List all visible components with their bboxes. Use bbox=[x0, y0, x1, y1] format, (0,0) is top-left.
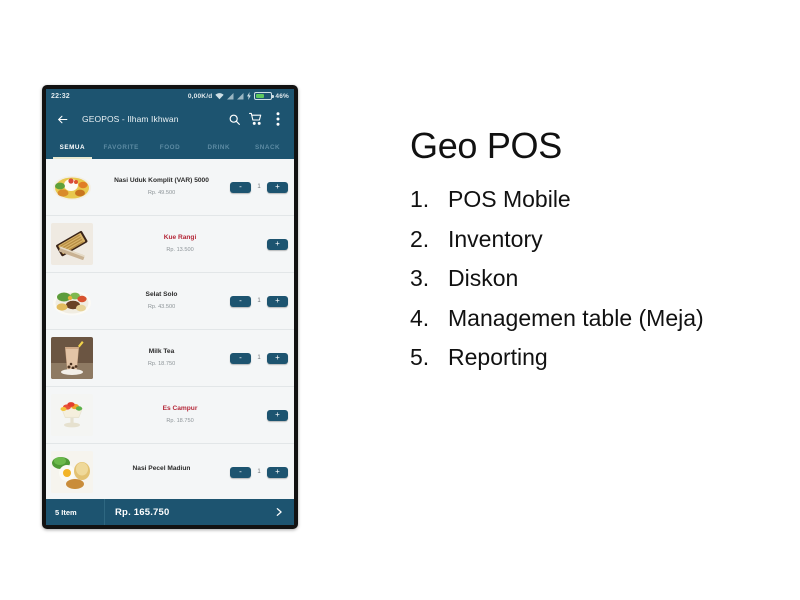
increment-button[interactable]: + bbox=[267, 182, 288, 193]
tab-label: FOOD bbox=[160, 144, 180, 151]
table-row[interactable]: Selat Solo Rp. 43.500 - 1 + bbox=[46, 273, 294, 330]
tab-label: FAVORITE bbox=[103, 144, 138, 151]
cart-total: Rp. 165.750 bbox=[105, 507, 274, 518]
product-name: Nasi Pecel Madiun bbox=[133, 466, 191, 473]
signal-bars-icon bbox=[227, 93, 234, 100]
status-bar-time: 22:32 bbox=[51, 93, 70, 100]
category-tab-bar: SEMUA FAVORITE FOOD DRINK SNACK bbox=[46, 135, 294, 159]
tab-drink[interactable]: DRINK bbox=[194, 135, 243, 159]
product-price: Rp. 43.500 bbox=[148, 305, 175, 311]
app-bar: GEOPOS - Ilham Ikhwan bbox=[46, 103, 294, 135]
increment-button[interactable]: + bbox=[267, 467, 288, 478]
list-item-label: Reporting bbox=[448, 338, 548, 378]
table-row[interactable]: Es Campur Rp. 18.750 + bbox=[46, 387, 294, 444]
phone-screen: 22:32 0,00K/d 46% bbox=[46, 89, 294, 525]
quantity-value: 1 bbox=[256, 184, 262, 190]
quantity-stepper[interactable]: - 1 + bbox=[230, 182, 288, 193]
list-item-label: Inventory bbox=[448, 220, 543, 260]
product-name: Selat Solo bbox=[146, 292, 178, 299]
quantity-stepper[interactable]: - 1 + bbox=[230, 296, 288, 307]
phone-mockup: 22:32 0,00K/d 46% bbox=[42, 85, 298, 529]
page-title: Geo POS bbox=[410, 128, 790, 164]
increment-button[interactable]: + bbox=[267, 239, 288, 250]
table-row[interactable]: Nasi Pecel Madiun - 1 + bbox=[46, 444, 294, 501]
app-bar-title: GEOPOS - Ilham Ikhwan bbox=[76, 114, 220, 124]
decrement-button[interactable]: - bbox=[230, 182, 251, 193]
list-item-number: 3. bbox=[410, 259, 448, 299]
product-name: Nasi Uduk Komplit (VAR) 5000 bbox=[114, 178, 209, 185]
selat-solo-thumb bbox=[51, 280, 93, 322]
list-item: 4. Managemen table (Meja) bbox=[410, 299, 790, 339]
quantity-stepper[interactable]: + bbox=[267, 410, 288, 421]
tab-label: SEMUA bbox=[60, 144, 86, 151]
charging-bolt-icon bbox=[247, 92, 251, 100]
decrement-button[interactable]: - bbox=[230, 353, 251, 364]
list-item-number: 2. bbox=[410, 220, 448, 260]
tab-label: SNACK bbox=[255, 144, 280, 151]
slide-text-panel: Geo POS 1. POS Mobile 2. Inventory 3. Di… bbox=[410, 128, 790, 378]
search-icon[interactable] bbox=[226, 111, 242, 127]
quantity-value: 1 bbox=[256, 298, 262, 304]
tab-label: DRINK bbox=[207, 144, 230, 151]
battery-icon bbox=[254, 92, 272, 100]
product-name: Milk Tea bbox=[149, 349, 175, 356]
product-price: Rp. 49.500 bbox=[148, 191, 175, 197]
kue-rangi-thumb bbox=[51, 223, 93, 265]
battery-percent: 46% bbox=[275, 93, 289, 100]
product-name: Es Campur bbox=[163, 406, 198, 413]
cart-item-count: 5 Item bbox=[46, 508, 104, 517]
table-row[interactable]: Milk Tea Rp. 18.750 - 1 + bbox=[46, 330, 294, 387]
list-item-label: Managemen table (Meja) bbox=[448, 299, 704, 339]
table-row[interactable]: Nasi Uduk Komplit (VAR) 5000 Rp. 49.500 … bbox=[46, 159, 294, 216]
list-item-label: POS Mobile bbox=[448, 180, 571, 220]
cart-summary-bar[interactable]: 5 Item Rp. 165.750 bbox=[46, 499, 294, 525]
status-bar-data-rate: 0,00K/d bbox=[188, 93, 213, 100]
list-item: 3. Diskon bbox=[410, 259, 790, 299]
tab-snack[interactable]: SNACK bbox=[243, 135, 292, 159]
product-price: Rp. 18.750 bbox=[166, 419, 193, 425]
quantity-value: 1 bbox=[256, 355, 262, 361]
product-list[interactable]: Nasi Uduk Komplit (VAR) 5000 Rp. 49.500 … bbox=[46, 159, 294, 525]
product-price: Rp. 18.750 bbox=[148, 362, 175, 368]
list-item: 5. Reporting bbox=[410, 338, 790, 378]
back-arrow-icon[interactable] bbox=[54, 111, 70, 127]
signal-bars-icon bbox=[237, 93, 244, 100]
status-bar: 22:32 0,00K/d 46% bbox=[46, 89, 294, 103]
list-item-number: 1. bbox=[410, 180, 448, 220]
tab-food[interactable]: FOOD bbox=[146, 135, 195, 159]
milk-tea-thumb bbox=[51, 337, 93, 379]
slide-canvas: 22:32 0,00K/d 46% bbox=[0, 0, 800, 600]
list-item: 1. POS Mobile bbox=[410, 180, 790, 220]
chevron-right-icon[interactable] bbox=[274, 505, 294, 519]
quantity-stepper[interactable]: + bbox=[267, 239, 288, 250]
quantity-stepper[interactable]: - 1 + bbox=[230, 467, 288, 478]
nasi-pecel-thumb bbox=[51, 451, 93, 493]
quantity-stepper[interactable]: - 1 + bbox=[230, 353, 288, 364]
increment-button[interactable]: + bbox=[267, 353, 288, 364]
wifi-icon bbox=[215, 93, 224, 100]
shopping-cart-icon[interactable] bbox=[248, 111, 264, 127]
es-campur-thumb bbox=[51, 394, 93, 436]
list-item: 2. Inventory bbox=[410, 220, 790, 260]
increment-button[interactable]: + bbox=[267, 410, 288, 421]
list-item-label: Diskon bbox=[448, 259, 518, 299]
more-vertical-icon[interactable] bbox=[270, 111, 286, 127]
feature-list: 1. POS Mobile 2. Inventory 3. Diskon 4. … bbox=[410, 180, 790, 378]
product-price: Rp. 13.500 bbox=[166, 248, 193, 254]
tab-semua[interactable]: SEMUA bbox=[48, 135, 97, 159]
decrement-button[interactable]: - bbox=[230, 467, 251, 478]
decrement-button[interactable]: - bbox=[230, 296, 251, 307]
increment-button[interactable]: + bbox=[267, 296, 288, 307]
tab-favorite[interactable]: FAVORITE bbox=[97, 135, 146, 159]
nasi-uduk-thumb bbox=[51, 166, 93, 208]
table-row[interactable]: Kue Rangi Rp. 13.500 + bbox=[46, 216, 294, 273]
quantity-value: 1 bbox=[256, 469, 262, 475]
product-name: Kue Rangi bbox=[164, 235, 197, 242]
list-item-number: 5. bbox=[410, 338, 448, 378]
list-item-number: 4. bbox=[410, 299, 448, 339]
